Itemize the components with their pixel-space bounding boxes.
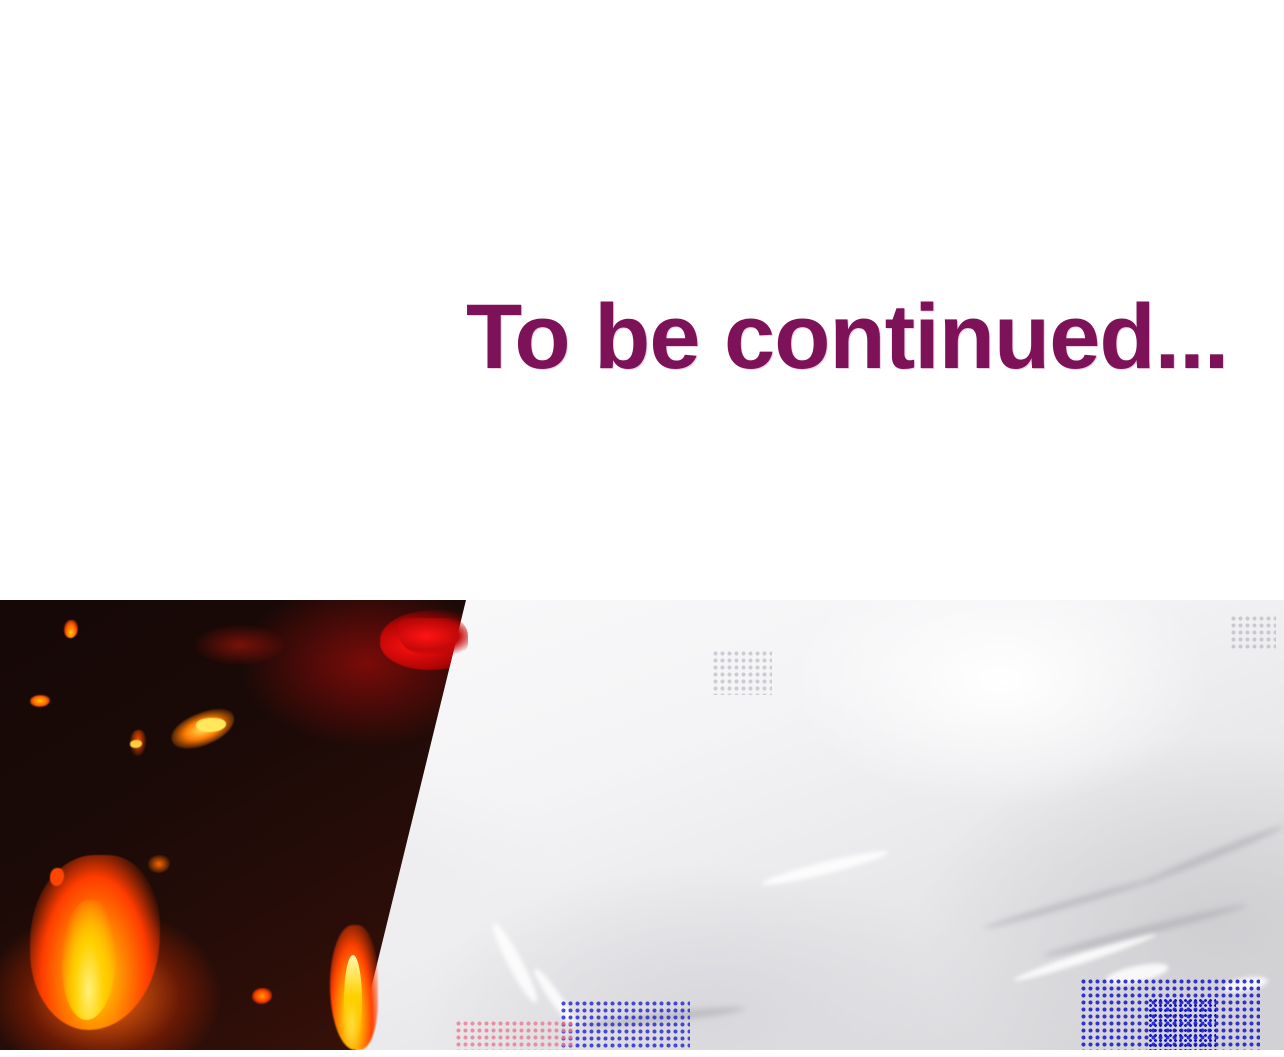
mist-streak	[760, 846, 889, 889]
flame-spark	[30, 695, 50, 707]
halftone-cluster	[712, 650, 772, 695]
halftone-cluster	[1230, 615, 1276, 651]
flame-spark	[252, 988, 272, 1004]
mist-shadow-streak	[983, 875, 1158, 931]
comic-page: 1STKISSMANGA.iO To be continued...	[0, 0, 1284, 1057]
flame-foreground-core	[344, 955, 362, 1047]
ember-glow	[195, 625, 285, 665]
halftone-cluster	[560, 1000, 690, 1050]
halftone-cluster	[455, 1020, 575, 1050]
flame-spark	[64, 620, 78, 638]
halftone-cluster	[1148, 998, 1216, 1050]
mist-shadow-streak	[1144, 822, 1284, 886]
comic-panel-white: To be continued...	[0, 0, 1284, 600]
to-be-continued-caption: To be continued...	[466, 291, 1228, 383]
page-bottom-strip	[0, 1050, 1284, 1057]
flame-spark	[148, 855, 170, 873]
mist-shadow-streak	[1042, 901, 1248, 961]
advertisement-banner[interactable]: READ THE LATEST CHAPTER ON READ THE LATE…	[0, 600, 1284, 1050]
mist-streak	[488, 920, 543, 1006]
red-ember-smear	[398, 618, 468, 654]
